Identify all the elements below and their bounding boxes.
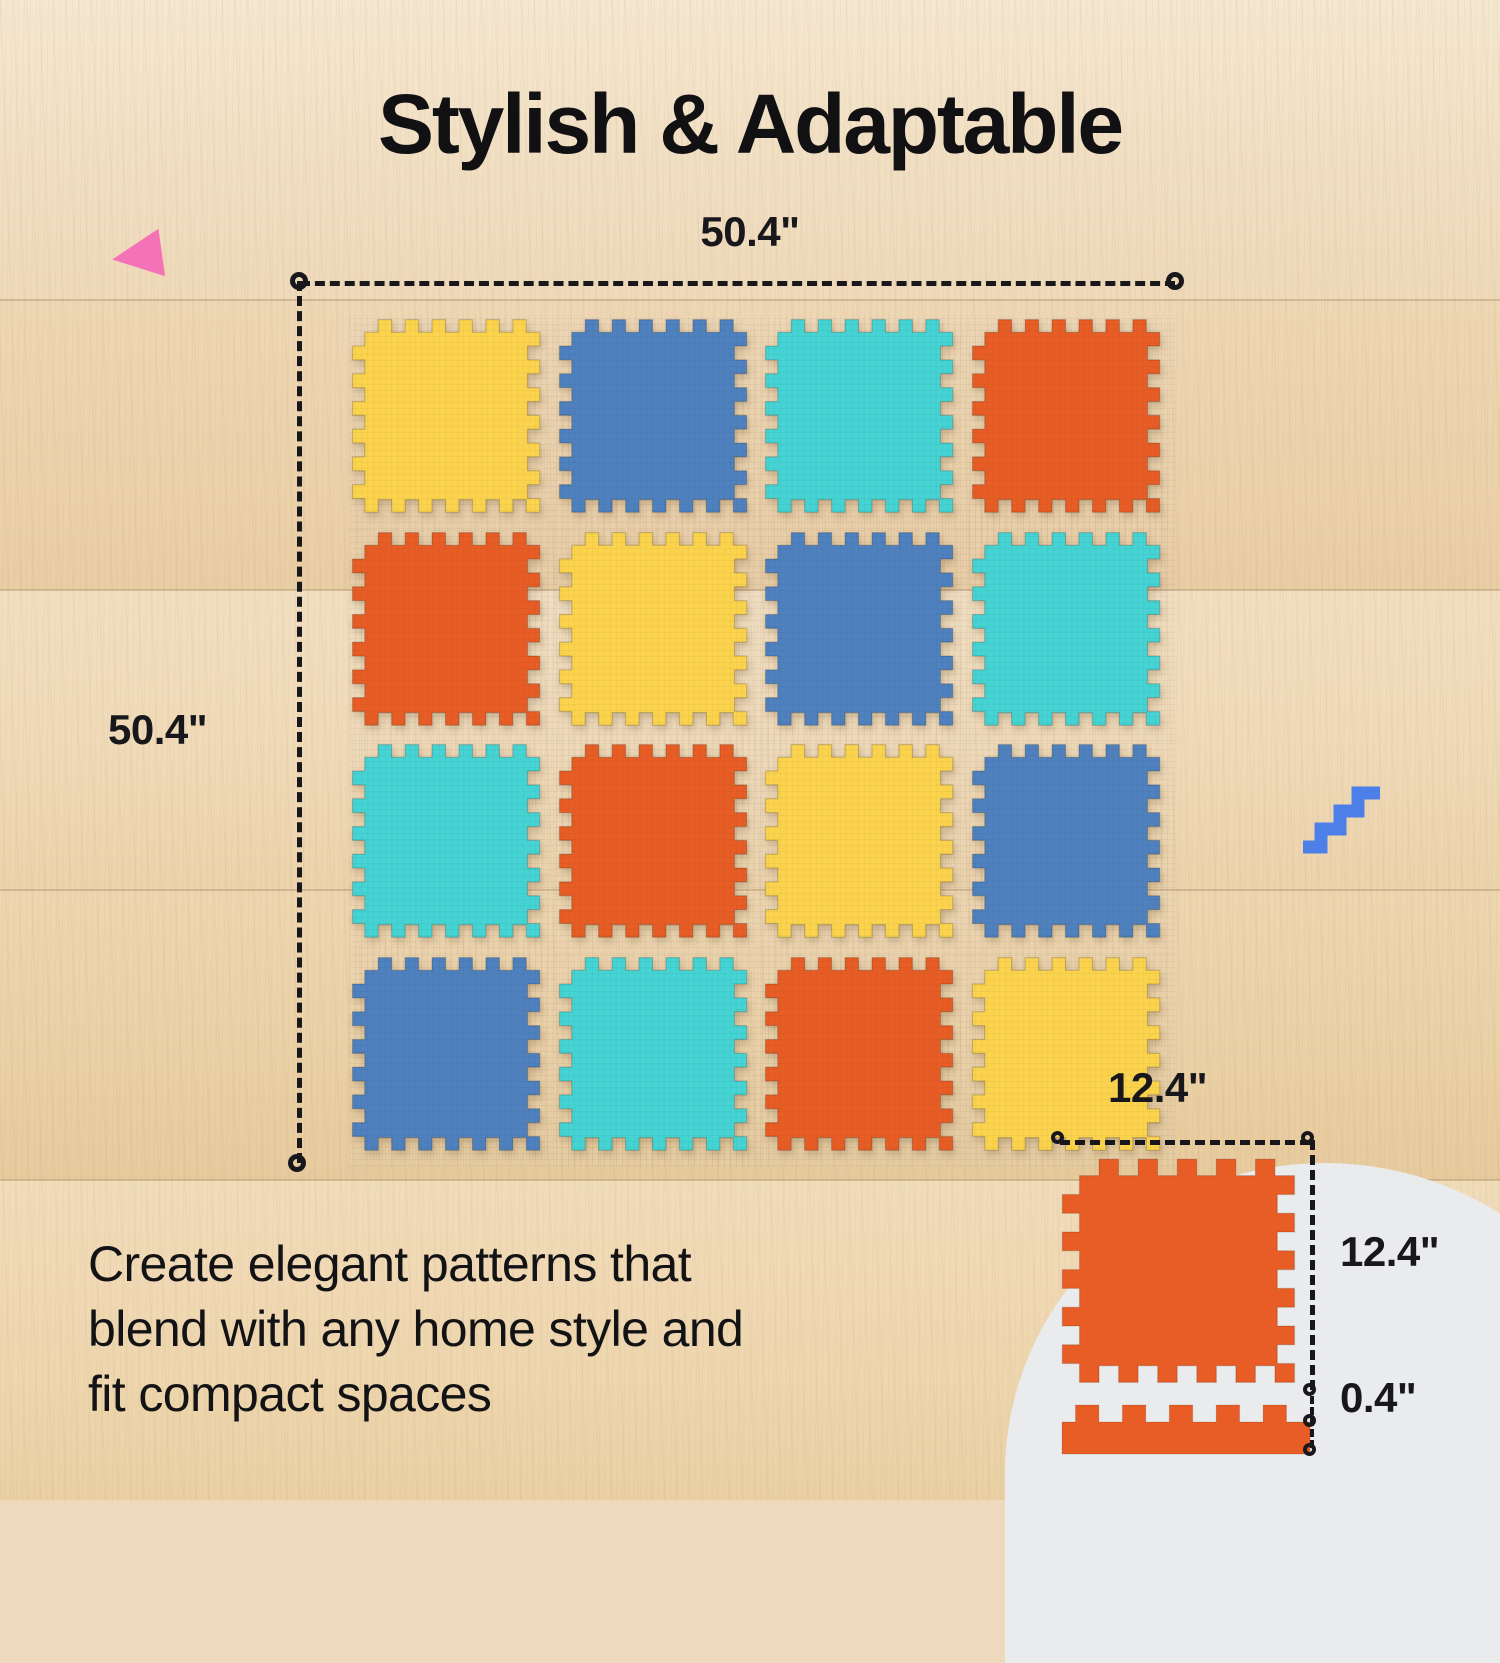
tile-width-dimension-line	[1060, 1140, 1310, 1145]
tile-height-label: 12.4"	[1340, 1228, 1439, 1276]
dimension-endpoint-marker	[1301, 1131, 1314, 1144]
mat-tile	[762, 954, 969, 1167]
mat-tile	[556, 316, 763, 529]
foam-mat-grid	[349, 316, 1175, 1166]
blue-zigzag-icon	[1300, 785, 1392, 857]
mat-tile	[969, 954, 1176, 1167]
mat-tile	[349, 529, 556, 742]
mat-height-dimension-line	[297, 281, 302, 1163]
mat-tile	[762, 741, 969, 954]
mat-tile	[762, 316, 969, 529]
description-line-1: Create elegant patterns that	[88, 1232, 968, 1297]
page-title: Stylish & Adaptable	[0, 76, 1500, 173]
tile-width-label: 12.4"	[1108, 1064, 1207, 1112]
mat-tile	[556, 529, 763, 742]
mat-tile	[556, 954, 763, 1167]
inset-tile-edge-profile	[1058, 1408, 1316, 1454]
mat-width-label: 50.4"	[0, 208, 1500, 256]
tile-thickness-label: 0.4"	[1340, 1374, 1416, 1422]
dimension-endpoint-marker	[288, 1154, 306, 1172]
mat-tile	[762, 529, 969, 742]
description-line-2: blend with any home style and	[88, 1297, 968, 1362]
mat-height-label: 50.4"	[108, 706, 207, 754]
dimension-endpoint-marker	[290, 272, 308, 290]
dimension-endpoint-marker	[1303, 1383, 1316, 1396]
mat-tile	[349, 316, 556, 529]
mat-tile	[349, 954, 556, 1167]
dimension-endpoint-marker	[1303, 1443, 1316, 1456]
description-text: Create elegant patterns that blend with …	[88, 1232, 968, 1427]
mat-tile	[556, 741, 763, 954]
dimension-endpoint-marker	[1166, 272, 1184, 290]
mat-width-dimension-line	[300, 281, 1175, 286]
dimension-endpoint-marker	[1051, 1131, 1064, 1144]
mat-tile	[969, 741, 1176, 954]
mat-tile	[969, 316, 1176, 529]
mat-tile	[969, 529, 1176, 742]
dimension-endpoint-marker	[1303, 1414, 1316, 1427]
mat-tile	[349, 741, 556, 954]
tile-height-dimension-line	[1310, 1140, 1315, 1390]
inset-single-tile	[1058, 1155, 1316, 1403]
description-line-3: fit compact spaces	[88, 1362, 968, 1427]
